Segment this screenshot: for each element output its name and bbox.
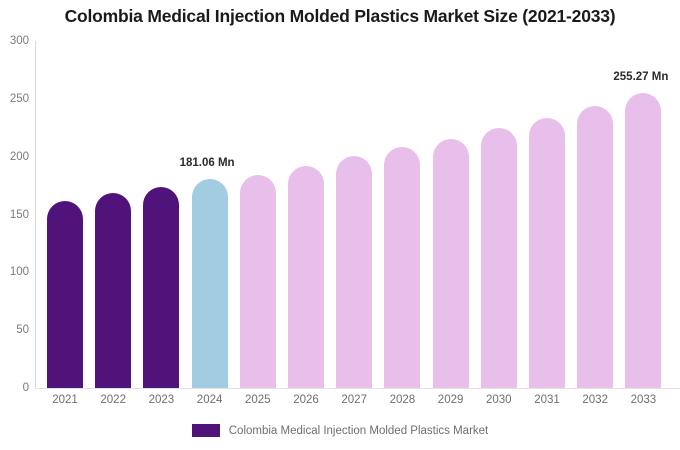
bar-rect-2032[interactable] — [577, 106, 613, 388]
x-axis-tick-2021: 2021 — [43, 394, 87, 406]
y-axis-tick-50: 50 — [0, 324, 29, 336]
x-axis-tick-2026: 2026 — [284, 394, 328, 406]
bar-rect-2025[interactable] — [240, 175, 276, 388]
bar-value-label-2033: 255.27 Mn — [613, 71, 668, 83]
bar-rect-2029[interactable] — [433, 139, 469, 388]
x-axis-tick-2023: 2023 — [139, 394, 183, 406]
bar-2023[interactable] — [143, 187, 179, 388]
x-axis-tick-2022: 2022 — [91, 394, 135, 406]
bar-2031[interactable] — [529, 118, 565, 388]
x-axis-tick-2030: 2030 — [477, 394, 521, 406]
chart-legend: Colombia Medical Injection Molded Plasti… — [0, 424, 680, 437]
bar-2025[interactable] — [240, 175, 276, 388]
bar-2026[interactable] — [288, 166, 324, 388]
bar-rect-2021[interactable] — [47, 201, 83, 388]
legend-label: Colombia Medical Injection Molded Plasti… — [229, 425, 489, 437]
bar-rect-2028[interactable] — [384, 147, 420, 388]
x-axis-tick-2028: 2028 — [380, 394, 424, 406]
chart-container: Colombia Medical Injection Molded Plasti… — [0, 0, 680, 450]
bar-rect-2033[interactable] — [625, 93, 661, 388]
x-axis-tick-2031: 2031 — [525, 394, 569, 406]
bar-2029[interactable] — [433, 139, 469, 388]
legend-swatch — [192, 424, 220, 437]
y-axis-tick-200: 200 — [0, 151, 29, 163]
y-axis-tick-150: 150 — [0, 209, 29, 221]
bar-2032[interactable] — [577, 106, 613, 388]
bar-2022[interactable] — [95, 193, 131, 388]
bar-rect-2027[interactable] — [336, 156, 372, 388]
x-axis-tick-2024: 2024 — [188, 394, 232, 406]
x-axis-tick-2032: 2032 — [573, 394, 617, 406]
bar-2033[interactable] — [625, 93, 661, 388]
bar-2030[interactable] — [481, 128, 517, 388]
bar-value-label-2024: 181.06 Mn — [180, 157, 235, 169]
x-axis-tick-2025: 2025 — [236, 394, 280, 406]
y-axis-tick-0: 0 — [0, 382, 29, 394]
y-axis-tick-labels: 050100150200250300 — [0, 0, 30, 450]
x-axis-tick-2029: 2029 — [429, 394, 473, 406]
bar-rect-2022[interactable] — [95, 193, 131, 388]
x-axis-line — [35, 388, 680, 389]
bar-rect-2031[interactable] — [529, 118, 565, 388]
plot-area — [35, 41, 680, 388]
bar-rect-2026[interactable] — [288, 166, 324, 388]
y-axis-tick-250: 250 — [0, 93, 29, 105]
bar-rect-2024[interactable] — [192, 179, 228, 388]
x-axis-tick-2033: 2033 — [621, 394, 665, 406]
bar-2024[interactable] — [192, 179, 228, 388]
bar-rect-2023[interactable] — [143, 187, 179, 388]
x-axis-tick-2027: 2027 — [332, 394, 376, 406]
chart-title: Colombia Medical Injection Molded Plasti… — [0, 6, 680, 27]
bar-rect-2030[interactable] — [481, 128, 517, 388]
bar-2027[interactable] — [336, 156, 372, 388]
bar-2021[interactable] — [47, 201, 83, 388]
bar-2028[interactable] — [384, 147, 420, 388]
y-axis-tick-300: 300 — [0, 35, 29, 47]
y-axis-tick-100: 100 — [0, 266, 29, 278]
